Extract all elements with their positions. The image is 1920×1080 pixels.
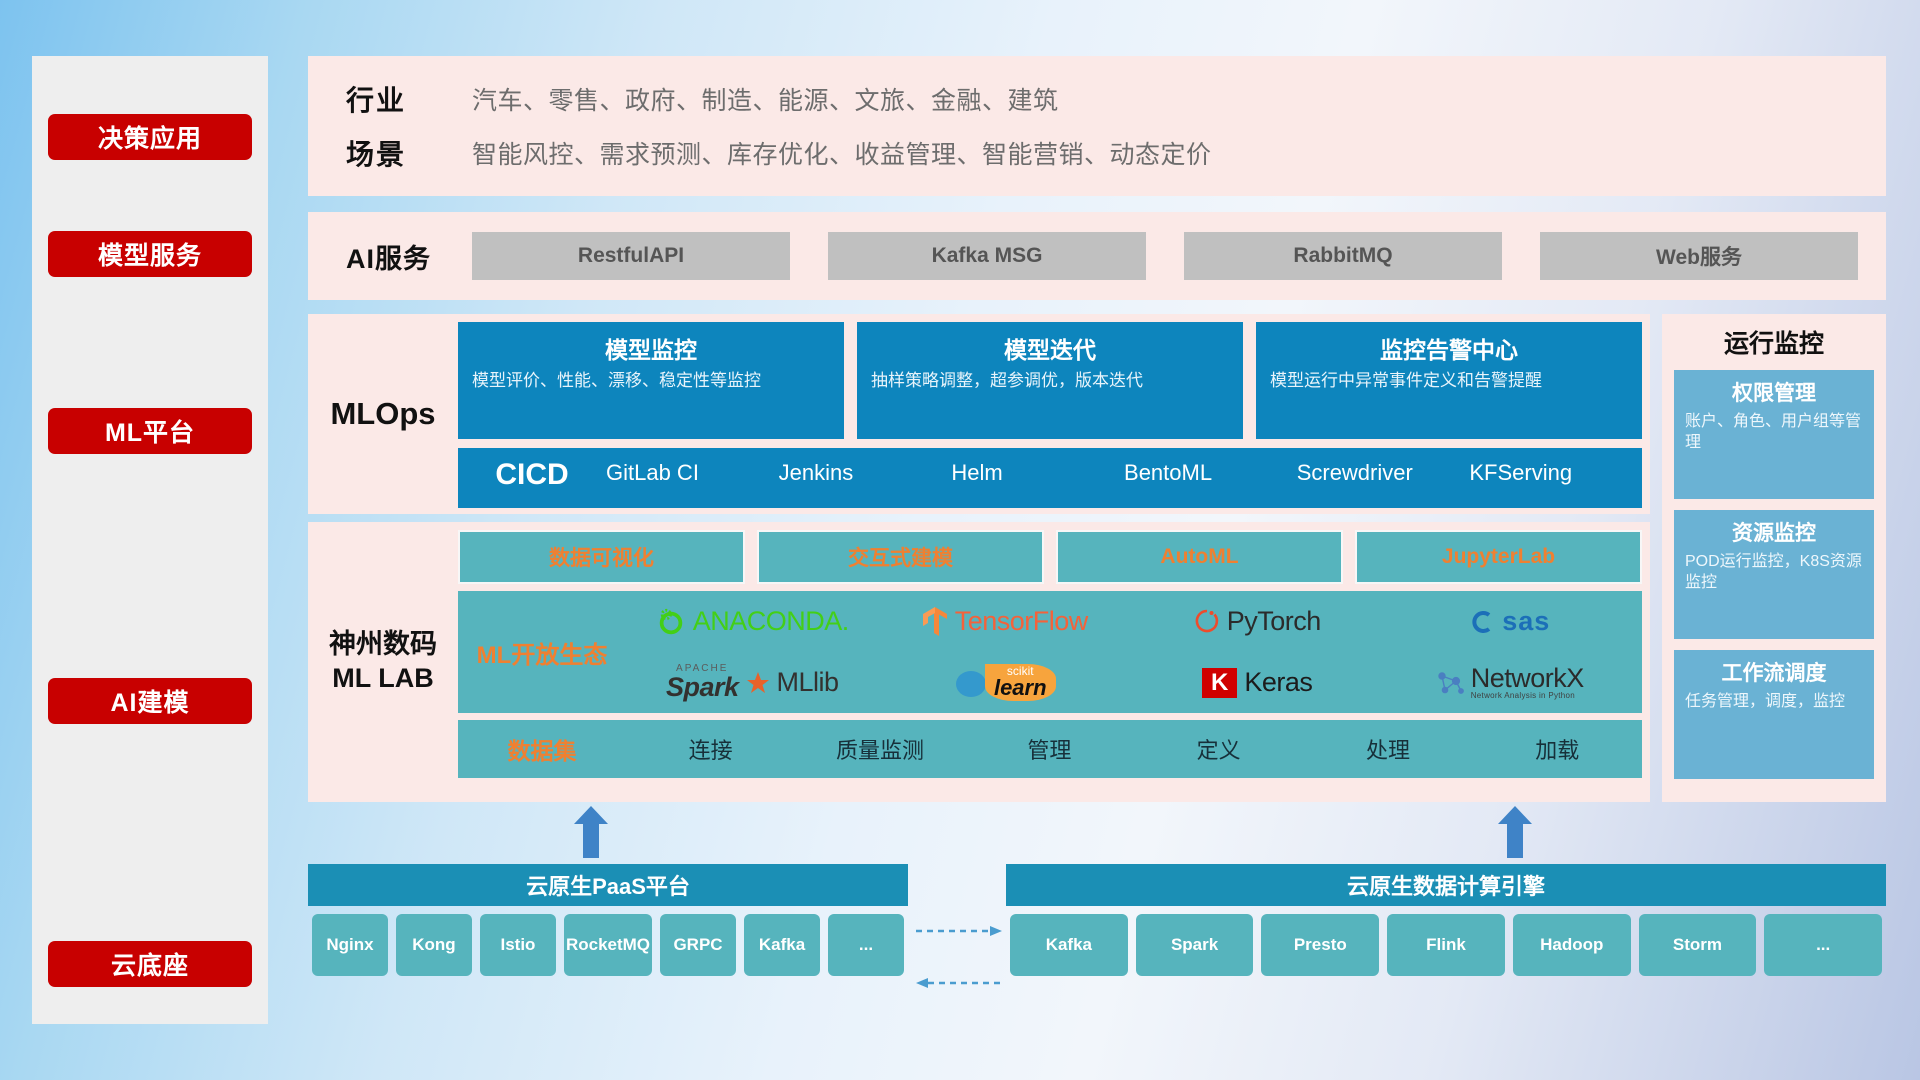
cloud-base-section: 云原生PaaS平台 Nginx Kong Istio RocketMQ GRPC… xyxy=(308,806,1886,1024)
ml-lab-label-line1: 神州数码 xyxy=(329,628,437,662)
paas-chip-grpc[interactable]: GRPC xyxy=(660,914,736,976)
cicd-item-screwdriver[interactable]: Screwdriver xyxy=(1297,448,1470,486)
monitoring-title: 运行监控 xyxy=(1724,324,1824,360)
card-title: 工作流调度 xyxy=(1685,657,1863,687)
tensorflow-logo-text: TensorFlow xyxy=(955,606,1088,637)
ai-services-label: AI服务 xyxy=(346,237,472,276)
card-desc: 模型评价、性能、漂移、稳定性等监控 xyxy=(472,370,830,393)
dataset-items: 连接 质量监测 管理 定义 处理 加载 xyxy=(626,733,1642,765)
ml-lab-tools: 数据可视化 交互式建模 AutoML JupyterLab xyxy=(458,530,1642,584)
ecosystem-label: ML开放生态 xyxy=(458,635,626,670)
rail-item-model-service[interactable]: 模型服务 xyxy=(48,231,252,277)
compute-chip-more[interactable]: ... xyxy=(1764,914,1882,976)
mllib-logo-text: MLlib xyxy=(777,667,839,698)
lab-tool-data-visualization[interactable]: 数据可视化 xyxy=(458,530,745,584)
cicd-item-bentoml[interactable]: BentoML xyxy=(1124,448,1297,486)
mlops-card-model-monitoring[interactable]: 模型监控 模型评价、性能、漂移、稳定性等监控 xyxy=(458,322,844,439)
lab-tool-interactive-modeling[interactable]: 交互式建模 xyxy=(757,530,1044,584)
scenario-label: 场景 xyxy=(346,133,472,173)
anaconda-logo-text: ANACONDA. xyxy=(693,606,849,637)
scikit-blue-blob-icon xyxy=(954,667,988,699)
networkx-logo-tagline: Network Analysis in Python xyxy=(1471,692,1584,700)
card-desc: 抽样策略调整，超参调优，版本迭代 xyxy=(871,370,1229,393)
ecosystem-row: ML开放生态 ANACONDA. Ten xyxy=(458,591,1642,713)
industry-row: 行业 汽车、零售、政府、制造、能源、文旅、金融、建筑 xyxy=(346,72,1886,126)
learn-logo-text: learn xyxy=(994,677,1047,699)
dataset-item-connect[interactable]: 连接 xyxy=(626,733,795,765)
compute-chip-spark[interactable]: Spark xyxy=(1136,914,1254,976)
pytorch-mark-icon xyxy=(1194,607,1220,637)
compute-chip-hadoop[interactable]: Hadoop xyxy=(1513,914,1631,976)
card-title: 模型监控 xyxy=(472,331,830,365)
scikit-learn-logo: scikit learn xyxy=(954,664,1056,701)
applications-band: 行业 汽车、零售、政府、制造、能源、文旅、金融、建筑 场景 智能风控、需求预测、… xyxy=(308,56,1886,196)
networkx-graph-icon xyxy=(1436,669,1464,697)
mlops-body: 模型监控 模型评价、性能、漂移、稳定性等监控 模型迭代 抽样策略调整，超参调优，… xyxy=(458,314,1650,514)
paas-chips: Nginx Kong Istio RocketMQ GRPC Kafka ... xyxy=(308,906,908,976)
rail-item-label: 模型服务 xyxy=(98,236,202,272)
cicd-item-helm[interactable]: Helm xyxy=(951,448,1124,486)
sas-mark-icon xyxy=(1469,609,1495,635)
compute-chip-storm[interactable]: Storm xyxy=(1639,914,1757,976)
compute-to-paas-arrow-icon xyxy=(916,976,1002,978)
dataset-label: 数据集 xyxy=(458,732,626,766)
rail-item-label: 云底座 xyxy=(111,946,189,982)
ai-services-list: RestfulAPI Kafka MSG RabbitMQ Web服务 xyxy=(472,232,1886,280)
compute-chip-kafka[interactable]: Kafka xyxy=(1010,914,1128,976)
mlops-card-model-iteration[interactable]: 模型迭代 抽样策略调整，超参调优，版本迭代 xyxy=(857,322,1243,439)
ai-services-band: AI服务 RestfulAPI Kafka MSG RabbitMQ Web服务 xyxy=(308,212,1886,300)
ml-lab-body: 数据可视化 交互式建模 AutoML JupyterLab ML开放生态 ANA… xyxy=(458,522,1650,802)
dataset-item-loading[interactable]: 加载 xyxy=(1473,733,1642,765)
paas-chip-kafka[interactable]: Kafka xyxy=(744,914,820,976)
card-title: 权限管理 xyxy=(1685,377,1863,407)
ml-lab-label: 神州数码 ML LAB xyxy=(308,522,458,802)
mlops-label: MLOps xyxy=(308,314,458,514)
cicd-title: CICD xyxy=(458,448,606,492)
monitoring-panel: 运行监控 权限管理 账户、角色、用户组等管理 资源监控 POD运行监控，K8S资… xyxy=(1662,314,1886,802)
ai-service-web[interactable]: Web服务 xyxy=(1540,232,1858,280)
mlops-cards: 模型监控 模型评价、性能、漂移、稳定性等监控 模型迭代 抽样策略调整，超参调优，… xyxy=(458,322,1642,439)
left-rail: 决策应用 模型服务 ML平台 AI建模 云底座 xyxy=(32,56,268,1024)
tensorflow-logo: TensorFlow xyxy=(922,606,1088,638)
industry-values: 汽车、零售、政府、制造、能源、文旅、金融、建筑 xyxy=(472,81,1059,117)
ecosystem-logos: ANACONDA. TensorFlow xyxy=(626,591,1642,713)
card-title: 资源监控 xyxy=(1685,517,1863,547)
mlops-card-alert-center[interactable]: 监控告警中心 模型运行中异常事件定义和告警提醒 xyxy=(1256,322,1642,439)
scenario-row: 场景 智能风控、需求预测、库存优化、收益管理、智能营销、动态定价 xyxy=(346,126,1886,180)
industry-label: 行业 xyxy=(346,79,472,119)
rail-item-ml-platform[interactable]: ML平台 xyxy=(48,408,252,454)
spark-logo-text: Spark xyxy=(666,674,739,701)
card-desc: POD运行监控，K8S资源监控 xyxy=(1685,551,1863,594)
tensorflow-mark-icon xyxy=(922,606,948,638)
sas-logo: sas xyxy=(1469,606,1550,637)
monitoring-card-permissions[interactable]: 权限管理 账户、角色、用户组等管理 xyxy=(1674,370,1874,499)
cicd-item-jenkins[interactable]: Jenkins xyxy=(779,448,952,486)
rail-item-label: 决策应用 xyxy=(98,119,202,155)
card-desc: 任务管理，调度，监控 xyxy=(1685,691,1863,712)
card-desc: 模型运行中异常事件定义和告警提醒 xyxy=(1270,370,1628,393)
paas-to-compute-arrow-icon xyxy=(916,924,1002,926)
rail-item-decision-apps[interactable]: 决策应用 xyxy=(48,114,252,160)
ml-lab-label-line2: ML LAB xyxy=(332,662,434,696)
rail-item-label: AI建模 xyxy=(110,683,189,719)
paas-block: 云原生PaaS平台 Nginx Kong Istio RocketMQ GRPC… xyxy=(308,864,908,976)
paas-chip-kong[interactable]: Kong xyxy=(396,914,472,976)
anaconda-mark-icon xyxy=(656,607,686,637)
monitoring-card-workflow[interactable]: 工作流调度 任务管理，调度，监控 xyxy=(1674,650,1874,779)
ai-service-kafka-msg[interactable]: Kafka MSG xyxy=(828,232,1146,280)
paas-chip-istio[interactable]: Istio xyxy=(480,914,556,976)
dataset-row: 数据集 连接 质量监测 管理 定义 处理 加载 xyxy=(458,720,1642,778)
compute-up-arrow-icon xyxy=(1498,806,1532,858)
compute-block: 云原生数据计算引擎 Kafka Spark Presto Flink Hadoo… xyxy=(1006,864,1886,976)
keras-mark-icon: K xyxy=(1202,668,1237,698)
card-desc: 账户、角色、用户组等管理 xyxy=(1685,411,1863,454)
paas-up-arrow-icon xyxy=(574,806,608,858)
lab-tool-automl[interactable]: AutoML xyxy=(1056,530,1343,584)
spark-mllib-logo: APACHE Spark MLlib xyxy=(666,664,839,701)
paas-title: 云原生PaaS平台 xyxy=(308,864,908,906)
card-title: 模型迭代 xyxy=(871,331,1229,365)
spark-star-icon xyxy=(746,671,770,695)
keras-logo-text: Keras xyxy=(1244,667,1312,698)
rail-item-ai-modeling[interactable]: AI建模 xyxy=(48,678,252,724)
sas-logo-text: sas xyxy=(1502,606,1550,637)
cicd-bar: CICD GitLab CI Jenkins Helm BentoML Scre… xyxy=(458,448,1642,508)
networkx-logo-text: NetworkX xyxy=(1471,665,1584,692)
dataset-item-processing[interactable]: 处理 xyxy=(1303,733,1472,765)
rail-item-cloud-base[interactable]: 云底座 xyxy=(48,941,252,987)
dataset-item-quality-monitoring[interactable]: 质量监测 xyxy=(795,733,964,765)
pytorch-logo: PyTorch xyxy=(1194,606,1321,637)
keras-logo: K Keras xyxy=(1202,667,1312,698)
ai-service-restfulapi[interactable]: RestfulAPI xyxy=(472,232,790,280)
monitoring-card-resources[interactable]: 资源监控 POD运行监控，K8S资源监控 xyxy=(1674,510,1874,639)
anaconda-logo: ANACONDA. xyxy=(656,606,849,637)
compute-chip-flink[interactable]: Flink xyxy=(1387,914,1505,976)
ml-lab-band: 神州数码 ML LAB 数据可视化 交互式建模 AutoML JupyterLa… xyxy=(308,522,1650,802)
ai-service-rabbitmq[interactable]: RabbitMQ xyxy=(1184,232,1502,280)
dataset-item-definition[interactable]: 定义 xyxy=(1134,733,1303,765)
networkx-logo: NetworkX Network Analysis in Python xyxy=(1436,665,1584,700)
mlops-band: MLOps 模型监控 模型评价、性能、漂移、稳定性等监控 模型迭代 抽样策略调整… xyxy=(308,314,1650,514)
paas-chip-rocketmq[interactable]: RocketMQ xyxy=(564,914,652,976)
compute-title: 云原生数据计算引擎 xyxy=(1006,864,1886,906)
cicd-item-gitlab-ci[interactable]: GitLab CI xyxy=(606,448,779,486)
card-title: 监控告警中心 xyxy=(1270,331,1628,365)
paas-chip-more[interactable]: ... xyxy=(828,914,904,976)
compute-chip-presto[interactable]: Presto xyxy=(1261,914,1379,976)
rail-item-label: ML平台 xyxy=(105,413,195,449)
paas-chip-nginx[interactable]: Nginx xyxy=(312,914,388,976)
cicd-item-kfserving[interactable]: KFServing xyxy=(1469,448,1642,486)
compute-chips: Kafka Spark Presto Flink Hadoop Storm ..… xyxy=(1006,906,1886,976)
pytorch-logo-text: PyTorch xyxy=(1227,606,1321,637)
dataset-item-management[interactable]: 管理 xyxy=(965,733,1134,765)
scenario-values: 智能风控、需求预测、库存优化、收益管理、智能营销、动态定价 xyxy=(472,135,1212,171)
lab-tool-jupyterlab[interactable]: JupyterLab xyxy=(1355,530,1642,584)
